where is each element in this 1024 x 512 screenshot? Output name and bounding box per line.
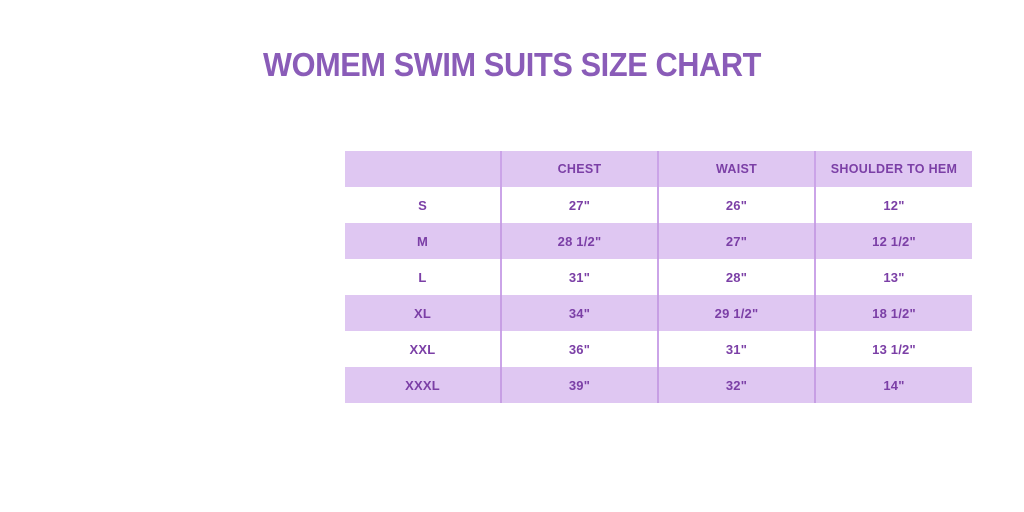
column-header-size <box>345 151 501 187</box>
cell-shoulder-to-hem: 13" <box>815 259 972 295</box>
table-row: XL 34" 29 1/2" 18 1/2" <box>345 295 972 331</box>
cell-size: L <box>345 259 501 295</box>
size-chart-page: WOMEM SWIM SUITS SIZE CHART CHEST WAIST … <box>0 0 1024 512</box>
size-chart-table: CHEST WAIST SHOULDER TO HEM S 27" 26" 12… <box>345 151 972 403</box>
cell-shoulder-to-hem: 14" <box>815 367 972 403</box>
table-header-row: CHEST WAIST SHOULDER TO HEM <box>345 151 972 187</box>
table-row: M 28 1/2" 27" 12 1/2" <box>345 223 972 259</box>
cell-waist: 31" <box>658 331 815 367</box>
cell-waist: 32" <box>658 367 815 403</box>
cell-chest: 36" <box>501 331 658 367</box>
table-row: XXL 36" 31" 13 1/2" <box>345 331 972 367</box>
cell-waist: 26" <box>658 187 815 223</box>
cell-chest: 28 1/2" <box>501 223 658 259</box>
table-row: L 31" 28" 13" <box>345 259 972 295</box>
cell-size: S <box>345 187 501 223</box>
column-header-chest: CHEST <box>501 151 658 187</box>
cell-waist: 27" <box>658 223 815 259</box>
cell-size: XL <box>345 295 501 331</box>
cell-shoulder-to-hem: 12 1/2" <box>815 223 972 259</box>
cell-shoulder-to-hem: 13 1/2" <box>815 331 972 367</box>
cell-shoulder-to-hem: 18 1/2" <box>815 295 972 331</box>
page-title: WOMEM SWIM SUITS SIZE CHART <box>36 45 988 85</box>
table-row: S 27" 26" 12" <box>345 187 972 223</box>
cell-waist: 29 1/2" <box>658 295 815 331</box>
cell-chest: 27" <box>501 187 658 223</box>
cell-waist: 28" <box>658 259 815 295</box>
cell-chest: 39" <box>501 367 658 403</box>
column-header-waist: WAIST <box>658 151 815 187</box>
table-body: S 27" 26" 12" M 28 1/2" 27" 12 1/2" L 31… <box>345 187 972 403</box>
cell-shoulder-to-hem: 12" <box>815 187 972 223</box>
cell-size: XXL <box>345 331 501 367</box>
cell-chest: 31" <box>501 259 658 295</box>
cell-size: XXXL <box>345 367 501 403</box>
table-row: XXXL 39" 32" 14" <box>345 367 972 403</box>
cell-chest: 34" <box>501 295 658 331</box>
table-header: CHEST WAIST SHOULDER TO HEM <box>345 151 972 187</box>
cell-size: M <box>345 223 501 259</box>
column-header-shoulder-to-hem: SHOULDER TO HEM <box>815 151 972 187</box>
